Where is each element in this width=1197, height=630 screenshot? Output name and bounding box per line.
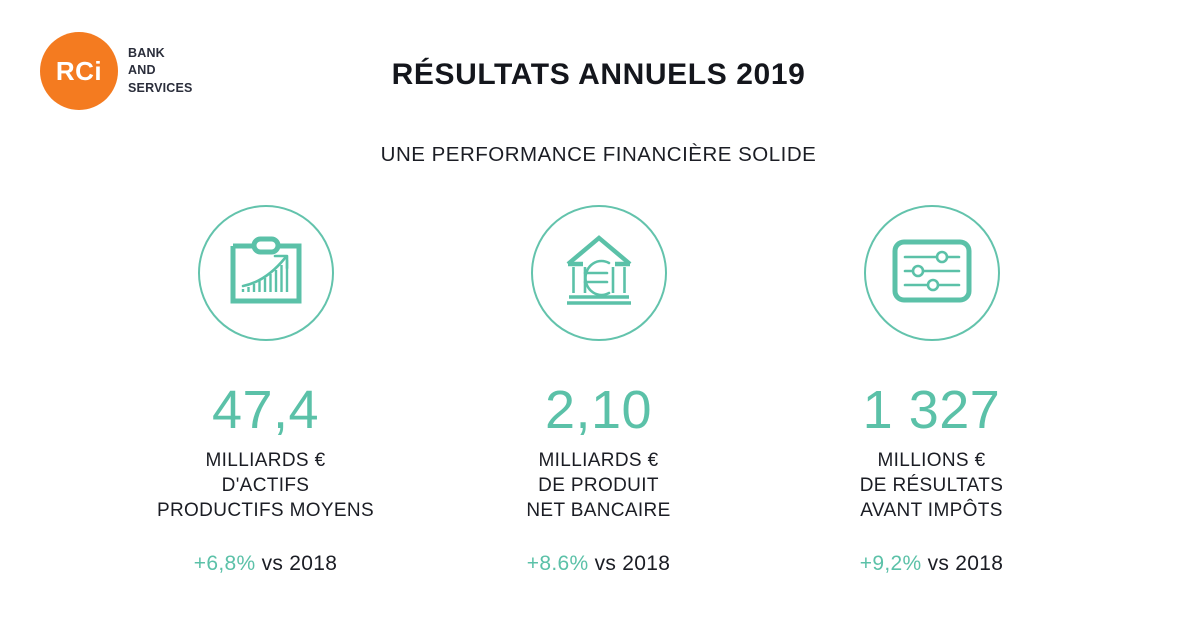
page-subtitle: UNE PERFORMANCE FINANCIÈRE SOLIDE <box>0 143 1197 167</box>
stat-description-line: MILLIARDS € <box>526 448 670 473</box>
stat-growth-comparison: vs 2018 <box>928 552 1004 575</box>
infographic-page: RCi BANK AND SERVICES RÉSULTATS ANNUELS … <box>0 0 1197 630</box>
stat-description-line: NET BANCAIRE <box>526 498 670 523</box>
stat-value: 47,4 <box>212 383 319 437</box>
stat-growth: +8.6% vs 2018 <box>527 552 670 576</box>
stat-value: 2,10 <box>545 383 652 437</box>
stat-icon-circle <box>531 205 667 341</box>
stat-column-pretax-income: 1 327 MILLIONS € DE RÉSULTATS AVANT IMPÔ… <box>765 205 1098 576</box>
stat-growth-comparison: vs 2018 <box>595 552 671 575</box>
stat-description-line: DE PRODUIT <box>526 473 670 498</box>
stat-icon-circle <box>198 205 334 341</box>
page-title: RÉSULTATS ANNUELS 2019 <box>0 58 1197 92</box>
stat-description: MILLIARDS € D'ACTIFS PRODUCTIFS MOYENS <box>157 448 374 523</box>
stats-row: 47,4 MILLIARDS € D'ACTIFS PRODUCTIFS MOY… <box>0 205 1197 576</box>
stat-description-line: AVANT IMPÔTS <box>860 498 1004 523</box>
bank-euro-icon <box>559 231 639 316</box>
sliders-settings-icon <box>892 239 972 308</box>
stat-growth-percent: +9,2% <box>860 552 922 575</box>
stat-icon-circle <box>864 205 1000 341</box>
stat-value: 1 327 <box>863 383 1001 437</box>
stat-growth-percent: +6,8% <box>194 552 256 575</box>
stat-description-line: D'ACTIFS <box>157 473 374 498</box>
stat-description-line: DE RÉSULTATS <box>860 473 1004 498</box>
stat-growth-percent: +8.6% <box>527 552 589 575</box>
stat-column-net-banking-income: 2,10 MILLIARDS € DE PRODUIT NET BANCAIRE… <box>432 205 765 576</box>
stat-description-line: MILLIONS € <box>860 448 1004 473</box>
growth-chart-clipboard-icon <box>227 234 305 313</box>
stat-description: MILLIONS € DE RÉSULTATS AVANT IMPÔTS <box>860 448 1004 523</box>
stat-description-line: MILLIARDS € <box>157 448 374 473</box>
stat-description-line: PRODUCTIFS MOYENS <box>157 498 374 523</box>
stat-growth: +6,8% vs 2018 <box>194 552 337 576</box>
stat-growth: +9,2% vs 2018 <box>860 552 1003 576</box>
stat-description: MILLIARDS € DE PRODUIT NET BANCAIRE <box>526 448 670 523</box>
stat-growth-comparison: vs 2018 <box>262 552 338 575</box>
stat-column-assets: 47,4 MILLIARDS € D'ACTIFS PRODUCTIFS MOY… <box>99 205 432 576</box>
